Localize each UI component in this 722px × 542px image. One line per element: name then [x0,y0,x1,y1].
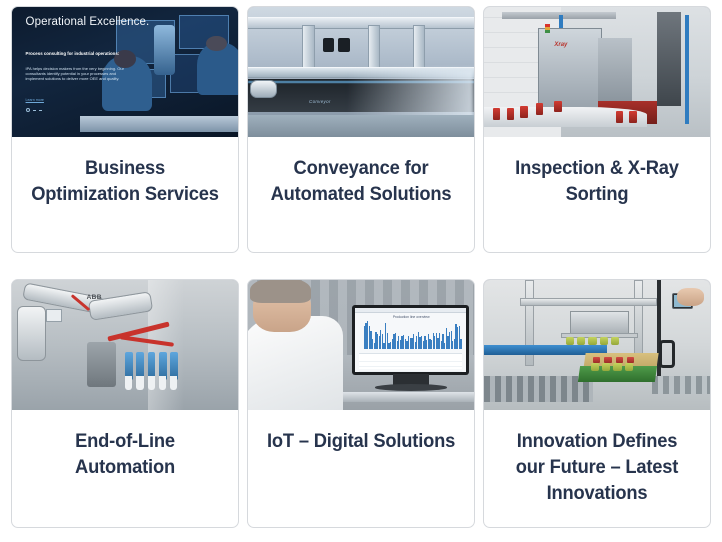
monitor-base-shape [375,384,447,391]
card-title: IoT – Digital Solutions [267,428,455,454]
cap-shape [136,376,143,390]
cap-shape [159,376,166,390]
card-title-wrap: Innovation Defines our Future – Latest I… [484,410,710,527]
signal-tower-icon [545,24,550,33]
roller-shape [250,80,277,98]
product-shape [611,337,619,345]
robot-arm-shape [154,25,174,74]
desk-shape [80,116,238,132]
card-grid: Operational Excellence. Process consulti… [0,0,722,542]
card-conveyance-for-automated-solutions[interactable]: Conveyor Conveyance for Automated Soluti… [247,6,475,253]
card-image-inspection-and-x-ray-sorting: Xray [484,7,711,137]
pipe-shape [685,15,689,124]
overlay-body: IPA helps decision makers from the very … [26,66,134,82]
card-business-optimization-services[interactable]: Operational Excellence. Process consulti… [11,6,239,253]
product-shape [600,337,608,345]
control-panel-shape [46,309,62,322]
can-shape [536,103,543,115]
table-row [359,368,462,372]
pager-dash-icon[interactable] [39,110,42,111]
dashboard-table [359,353,462,370]
chart-bar [460,339,461,348]
product-shape [591,363,599,371]
column-shape [657,12,682,106]
scene-conveyor: Conveyor [248,7,474,137]
table-row [359,363,462,367]
roller-conveyor-shape [484,376,593,402]
pager-dash-icon[interactable] [33,110,36,111]
scene-iot-dashboard: Production line overview [248,280,474,410]
card-image-business-optimization-services: Operational Excellence. Process consulti… [12,7,238,137]
card-title: Inspection & X-Ray Sorting [502,155,692,207]
product-shape [566,337,574,345]
can-shape [629,111,636,123]
card-title-wrap: Business Optimization Services [12,137,238,252]
product-shape [602,363,610,371]
motion-blur-shape [347,69,474,121]
dashboard-toolbar [355,308,467,314]
card-image-end-of-line-automation: ABB [12,280,238,410]
card-iot-digital-solutions[interactable]: Production line overview IoT [247,279,475,528]
hand-shape [677,288,704,306]
person-head-shape [206,36,226,52]
card-title-wrap: Conveyance for Automated Solutions [248,137,474,252]
card-image-iot-digital-solutions: Production line overview [248,280,474,410]
handle-shape [659,340,675,369]
dashboard-chart [364,319,462,349]
product-shape [625,363,633,371]
overlay-subhead: Process consulting for industrial operat… [26,51,139,57]
can-shape [616,111,623,123]
card-title-wrap: Inspection & X-Ray Sorting [484,137,710,252]
monitor-screen: Production line overview [355,308,467,372]
card-title: Business Optimization Services [30,155,220,207]
frame-shape [520,298,656,306]
camera-shape [323,38,334,52]
machine-base-shape [248,115,474,137]
tank-shape [87,342,116,386]
cap-shape [148,376,155,390]
can-shape [554,101,561,113]
overlay-headline: Operational Excellence. [26,16,150,30]
card-image-conveyance-for-automated-solutions: Conveyor [248,7,474,137]
scene-inspection-xray: Xray [484,7,711,137]
card-title: Innovation Defines our Future – Latest I… [502,428,692,506]
roller-conveyor-shape [652,376,711,394]
overlay-link[interactable]: Learn more [26,98,44,102]
product-shape [613,363,621,371]
card-innovation-defines-our-future[interactable]: Innovation Defines our Future – Latest I… [483,279,711,528]
robot-arm-shape [17,306,46,361]
rail-shape [248,17,474,29]
overlay-logo: Conveyor [309,99,331,104]
person-hair-shape [250,280,311,303]
post-shape [302,25,314,72]
can-shape [493,108,500,120]
overlay-logo: ABB [87,294,102,301]
pager-dot-icon[interactable] [26,108,30,112]
pick-head-shape [570,311,629,334]
card-title-wrap: IoT – Digital Solutions [248,410,474,527]
card-inspection-and-x-ray-sorting[interactable]: Xray Inspection & X-Ray Sorting [483,6,711,253]
scene-end-of-line: ABB [12,280,238,410]
card-end-of-line-automation[interactable]: ABB End-of-Line Automation [11,279,239,528]
scene-case-packer [484,280,711,410]
card-title: Conveyance for Automated Solutions [266,155,456,207]
product-shape [577,337,585,345]
cap-shape [170,376,177,390]
table-row [359,358,462,362]
scene-operational-excellence: Operational Excellence. Process consulti… [12,7,238,137]
person-shape [197,43,238,95]
overlay-pager[interactable] [26,108,42,112]
overlay-logo: Xray [554,42,567,48]
can-shape [520,106,527,118]
post-shape [413,25,425,72]
monitor-shape: Production line overview [352,305,470,375]
can-shape [507,108,514,120]
desk-shape [325,392,474,402]
product-shape [588,337,596,345]
frame-shape [634,280,643,361]
card-title-wrap: End-of-Line Automation [12,410,238,527]
card-title: End-of-Line Automation [30,428,220,480]
cap-shape [125,376,132,390]
camera-shape [338,38,349,52]
post-shape [368,25,380,72]
xray-machine-shape [538,28,602,109]
card-image-innovation-defines-our-future [484,280,711,410]
